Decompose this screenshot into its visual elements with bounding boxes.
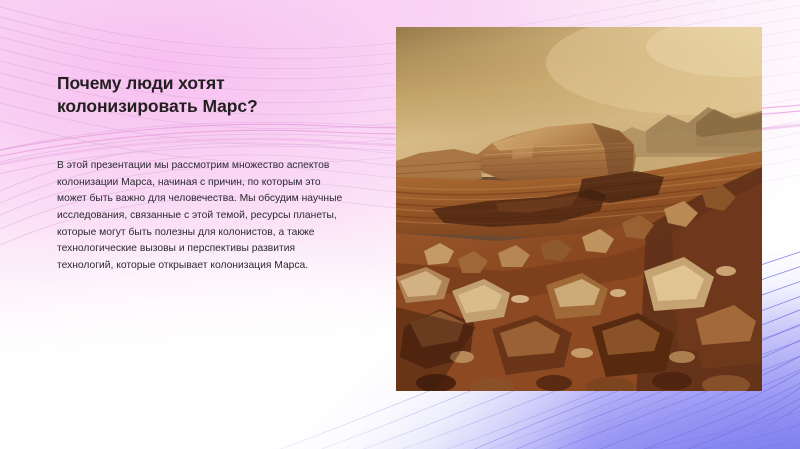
mars-landscape-image (396, 27, 762, 391)
slide-body-text: В этой презентации мы рассмотрим множест… (57, 158, 347, 275)
page-title: Почему люди хотят колонизировать Марс? (57, 72, 362, 119)
presentation-slide: Почему люди хотят колонизировать Марс? В… (0, 0, 800, 449)
slide-text-column: Почему люди хотят колонизировать Марс? (57, 72, 362, 119)
